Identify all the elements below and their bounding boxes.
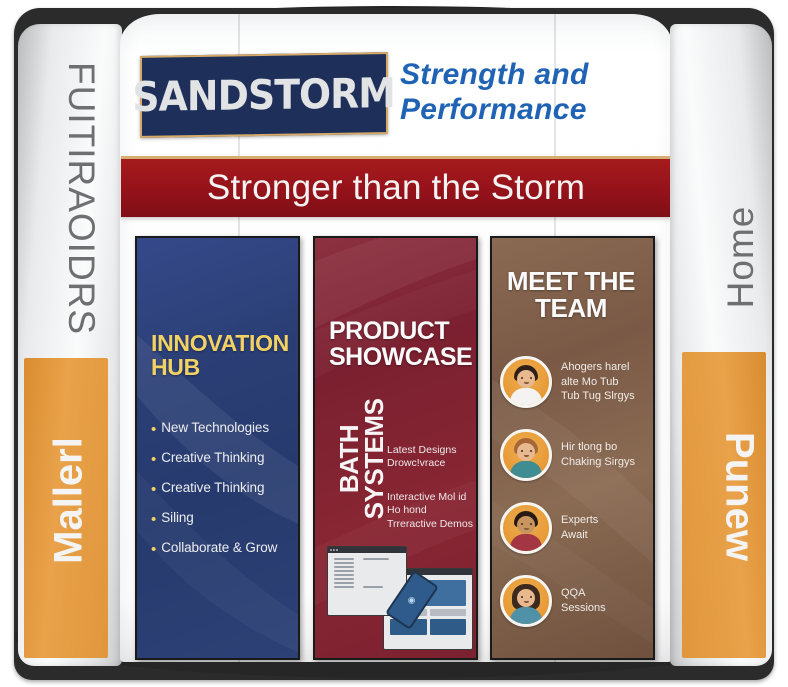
booth-stage: FUITIRAOIDRS Mallerl SANDSTORM Strength … — [0, 0, 788, 687]
brand-tagline: Strength and Performance — [400, 58, 650, 128]
team-text-line: Ahogers harel — [561, 360, 635, 375]
team-member-text: Experts Await — [561, 513, 598, 542]
team-text-line: Await — [561, 528, 598, 543]
avatar — [500, 575, 552, 627]
bullet-dot-icon: • — [151, 512, 156, 527]
panel-team-title-line1: MEET THE — [504, 268, 638, 295]
headline-banner-text: Stronger than the Storm — [207, 168, 585, 208]
bullet-dot-icon: • — [151, 482, 156, 497]
right-wing-band-label: Punew — [717, 382, 762, 612]
bullet-dot-icon: • — [151, 452, 156, 467]
team-text-line: QQA — [561, 586, 606, 601]
showcase-note: Latest Designs Drowc!vrace — [387, 444, 477, 471]
tagline-line-2: Performance — [400, 93, 650, 128]
bullet-label: Siling — [161, 510, 193, 526]
showcase-note-list: Latest Designs Drowc!vrace Interactive M… — [387, 444, 477, 551]
center-wall: SANDSTORM Strength and Performance Stron… — [120, 14, 672, 662]
avatar — [500, 429, 552, 481]
bullet-label: Creative Thinking — [161, 480, 264, 496]
tagline-line-1: Strength and — [400, 58, 650, 93]
panel-showcase-vertical-label: BATH SYSTEMS — [337, 384, 387, 534]
left-wing-accent-band: Mallerl — [24, 358, 108, 658]
panel-meet-the-team[interactable]: MEET THE TEAM Ahogers harel alte Mo Tub … — [490, 236, 655, 660]
bullet-label: New Technologies — [161, 420, 269, 436]
panel-innovation-hub[interactable]: INNOVATION HUB • New Technologies • Crea… — [135, 236, 300, 660]
bullet-dot-icon: • — [151, 542, 156, 557]
team-text-line: alte Mo Tub — [561, 375, 635, 390]
team-text-line: Sessions — [561, 601, 606, 616]
browser-window-front: ◉ — [327, 546, 407, 616]
list-item[interactable]: QQA Sessions — [500, 575, 650, 627]
right-wing-panel[interactable]: Home Punew — [670, 24, 772, 666]
avatar — [500, 356, 552, 408]
team-text-line: Hiɾ tlong bo — [561, 440, 635, 455]
window-dot-icon — [330, 549, 332, 551]
panel-showcase-title-line2: SHOWCASE — [329, 344, 472, 370]
team-text-line: Chaking Sirgys — [561, 455, 635, 470]
right-wing-label: Home — [720, 142, 762, 372]
list-item[interactable]: Ahogers harel alte Mo Tub Tub Tug Slrgys — [500, 356, 650, 408]
right-wing-accent-band: Punew — [682, 352, 766, 658]
panel-showcase-title: PRODUCT SHOWCASE — [329, 318, 472, 370]
panel-team-title: MEET THE TEAM — [504, 268, 638, 322]
showcase-note-line: Drowc!vrace — [387, 457, 477, 470]
left-wing-label: FUITIRAOIDRS — [60, 62, 102, 292]
bullet-label: Creative Thinking — [161, 450, 264, 466]
showcase-note-line: Trreractive Demos — [387, 518, 477, 531]
team-text-line: Tub Tug Slrgys — [561, 389, 635, 404]
bullet-dot-icon: • — [151, 422, 156, 437]
panel-showcase-title-line1: PRODUCT — [329, 318, 472, 344]
team-member-text: QQA Sessions — [561, 586, 606, 615]
window-dot-icon — [333, 549, 335, 551]
list-item: • Siling — [151, 510, 293, 527]
team-member-text: Ahogers harel alte Mo Tub Tub Tug Slrgys — [561, 360, 635, 404]
innovation-bullet-list: • New Technologies • Creative Thinking •… — [151, 420, 293, 570]
product-device-illustration: ◉ — [321, 538, 476, 656]
list-item: • Creative Thinking — [151, 450, 293, 467]
list-item: • Collaborate & Grow — [151, 540, 293, 557]
list-item: • Creative Thinking — [151, 480, 293, 497]
panel-innovation-title: INNOVATION HUB — [151, 332, 289, 380]
showcase-note-line: Latest Designs — [387, 444, 477, 457]
team-member-list: Ahogers harel alte Mo Tub Tub Tug Slrgys… — [500, 356, 650, 648]
headline-banner: Stronger than the Storm — [121, 156, 671, 217]
panel-team-title-line2: TEAM — [504, 295, 638, 322]
panel-innovation-title-line1: INNOVATION — [151, 332, 289, 356]
avatar — [500, 502, 552, 554]
showcase-note-line: Ho hond — [387, 504, 477, 517]
team-member-text: Hiɾ tlong bo Chaking Sirgys — [561, 440, 635, 469]
window-dot-icon — [336, 549, 338, 551]
panel-innovation-title-line2: HUB — [151, 356, 289, 380]
list-item[interactable]: Experts Await — [500, 502, 650, 554]
panel-product-showcase[interactable]: PRODUCT SHOWCASE BATH SYSTEMS Latest Des… — [313, 236, 478, 660]
brand-logo-text: SANDSTORM — [133, 69, 396, 121]
team-text-line: Experts — [561, 513, 598, 528]
showcase-note: Interactive Mol id Ho hond Trreractive D… — [387, 491, 477, 531]
showcase-note-line: Interactive Mol id — [387, 491, 477, 504]
bullet-label: Collaborate & Grow — [161, 540, 277, 556]
list-item[interactable]: Hiɾ tlong bo Chaking Sirgys — [500, 429, 650, 481]
vertical-label-line2: SYSTEMS — [362, 384, 387, 534]
left-wing-band-label: Mallerl — [47, 386, 92, 616]
list-item: • New Technologies — [151, 420, 293, 437]
brand-logo[interactable]: SANDSTORM — [140, 52, 388, 138]
left-wing-panel[interactable]: FUITIRAOIDRS Mallerl — [18, 24, 122, 666]
